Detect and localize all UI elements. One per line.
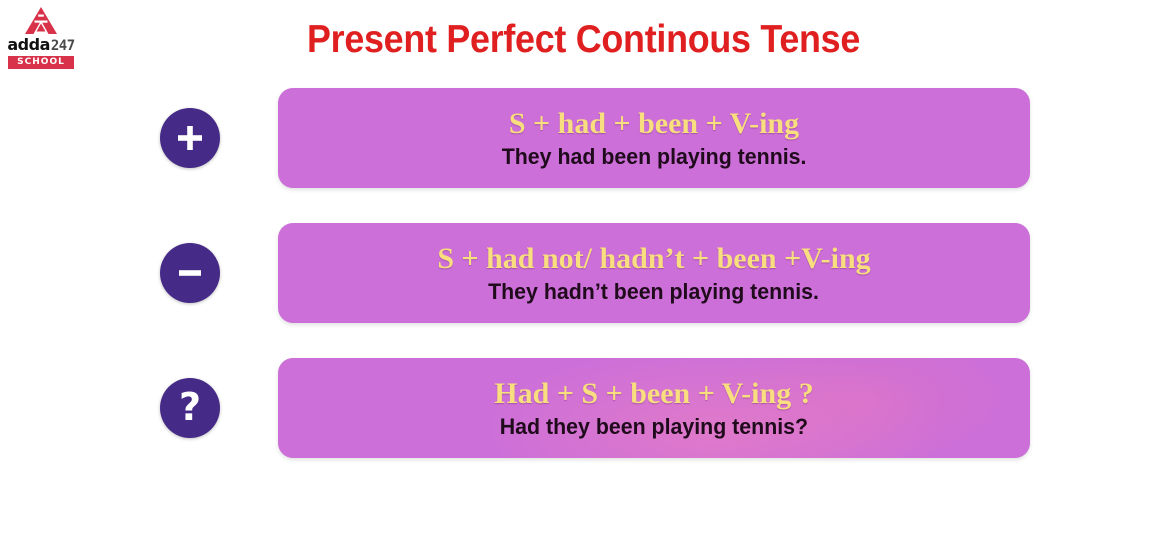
tense-row-interrogative: ? Had + S + been + V-ing ? Had they been… xyxy=(160,358,1030,458)
badge-affirmative xyxy=(160,108,220,168)
example-text: Had they been playing tennis? xyxy=(500,415,808,439)
plus-icon xyxy=(175,123,205,153)
badge-negative xyxy=(160,243,220,303)
logo-brand-text: adda xyxy=(7,37,50,53)
question-mark-icon: ? xyxy=(179,388,201,426)
tense-row-negative: S + had not/ hadn’t + been +V-ing They h… xyxy=(160,223,1030,323)
minus-icon xyxy=(175,258,205,288)
example-text: They had been playing tennis. xyxy=(502,145,807,169)
tense-row-affirmative: S + had + been + V-ing They had been pla… xyxy=(160,88,1030,188)
page-title: Present Perfect Continous Tense xyxy=(47,18,1121,62)
badge-interrogative: ? xyxy=(160,378,220,438)
formula-text: S + had not/ hadn’t + been +V-ing xyxy=(437,242,870,275)
slide-canvas: adda 247 SCHOOL Present Perfect Continou… xyxy=(0,0,1167,550)
formula-text: Had + S + been + V-ing ? xyxy=(494,377,813,410)
formula-card-interrogative: Had + S + been + V-ing ? Had they been p… xyxy=(278,358,1030,458)
formula-card-negative: S + had not/ hadn’t + been +V-ing They h… xyxy=(278,223,1030,323)
formula-card-affirmative: S + had + been + V-ing They had been pla… xyxy=(278,88,1030,188)
example-text: They hadn’t been playing tennis. xyxy=(489,280,820,304)
formula-text: S + had + been + V-ing xyxy=(509,107,799,140)
